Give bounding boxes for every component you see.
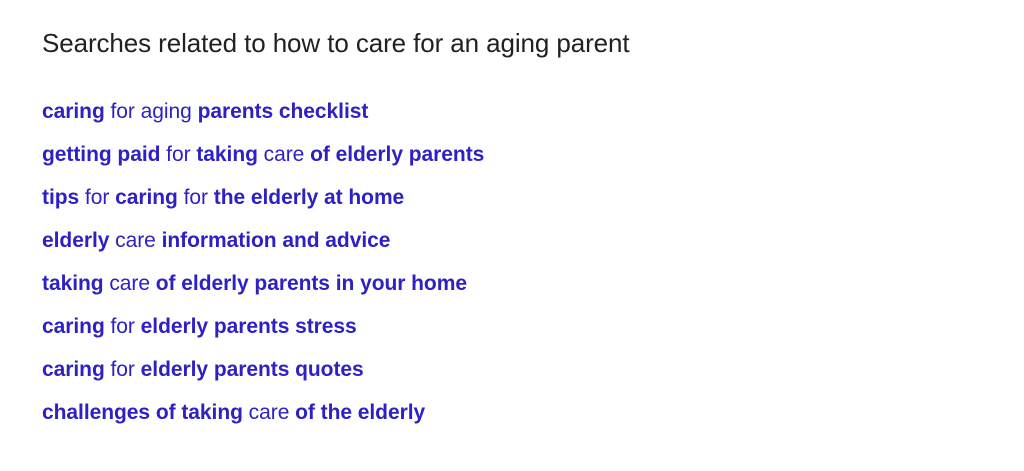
list-item: caring for elderly parents quotes	[42, 356, 982, 399]
query-term-bold: taking	[196, 143, 258, 166]
list-item: caring for aging parents checklist	[42, 98, 982, 141]
related-search-link[interactable]: caring for elderly parents quotes	[42, 356, 364, 384]
query-term-plain: for	[160, 143, 196, 166]
related-search-link[interactable]: challenges of taking care of the elderly	[42, 399, 425, 427]
related-search-link[interactable]: tips for caring for the elderly at home	[42, 184, 404, 212]
list-item: tips for caring for the elderly at home	[42, 184, 982, 227]
related-search-link[interactable]: getting paid for taking care of elderly …	[42, 141, 484, 169]
query-term-plain: for	[105, 315, 141, 338]
query-term-plain: for	[79, 186, 115, 209]
related-search-link[interactable]: elderly care information and advice	[42, 227, 390, 255]
list-item: elderly care information and advice	[42, 227, 982, 270]
query-term-plain: care	[258, 143, 310, 166]
query-term-bold: parents checklist	[198, 100, 369, 123]
query-term-plain: for aging	[105, 100, 198, 123]
query-term-bold: the elderly at home	[214, 186, 404, 209]
query-term-bold: getting paid	[42, 143, 160, 166]
query-term-bold: of elderly parents in your home	[156, 272, 467, 295]
query-term-bold: elderly parents quotes	[141, 358, 364, 381]
related-searches-block: Searches related to how to care for an a…	[0, 0, 1024, 471]
query-term-bold: information and advice	[162, 229, 391, 252]
query-term-plain: care	[104, 272, 156, 295]
related-search-link[interactable]: caring for aging parents checklist	[42, 98, 368, 126]
query-term-plain: for	[178, 186, 214, 209]
page-title: Searches related to how to care for an a…	[42, 28, 630, 58]
query-term-plain: care	[109, 229, 161, 252]
list-item: challenges of taking care of the elderly	[42, 399, 982, 442]
related-search-link[interactable]: taking care of elderly parents in your h…	[42, 270, 467, 298]
list-item: getting paid for taking care of elderly …	[42, 141, 982, 184]
related-search-link[interactable]: caring for elderly parents stress	[42, 313, 357, 341]
list-item: caring for elderly parents stress	[42, 313, 982, 356]
query-term-plain: care	[243, 401, 295, 424]
related-searches-list: caring for aging parents checklistgettin…	[42, 98, 982, 442]
query-term-bold: of elderly parents	[310, 143, 484, 166]
query-term-plain: for	[105, 358, 141, 381]
query-term-bold: caring	[115, 186, 178, 209]
query-term-bold: taking	[42, 272, 104, 295]
list-item: taking care of elderly parents in your h…	[42, 270, 982, 313]
query-term-bold: tips	[42, 186, 79, 209]
query-term-bold: caring	[42, 100, 105, 123]
query-term-bold: challenges of taking	[42, 401, 243, 424]
query-term-bold: caring	[42, 315, 105, 338]
query-term-bold: elderly	[42, 229, 109, 252]
query-term-bold: elderly parents stress	[141, 315, 357, 338]
query-term-bold: of the elderly	[295, 401, 425, 424]
query-term-bold: caring	[42, 358, 105, 381]
